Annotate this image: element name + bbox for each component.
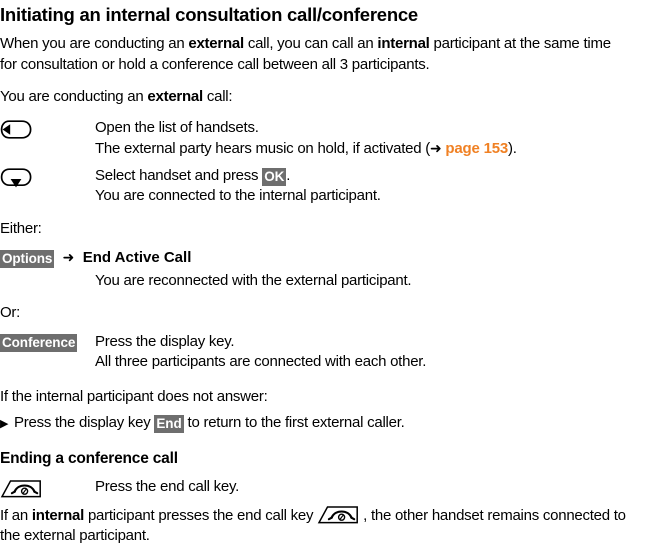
step-text-cell: Press the end call key.: [95, 477, 652, 498]
select-handset-text-end: .: [286, 167, 290, 184]
end-call-key-icon: [317, 506, 359, 524]
step-text-cell: Open the list of handsets. The external …: [95, 118, 652, 160]
control-key-left-icon: [0, 118, 32, 139]
step-line-secondary: All three participants are connected wit…: [95, 352, 652, 373]
no-answer-bullet-item: ▶Press the display key End to return to …: [0, 413, 652, 435]
step-icon-cell: [0, 118, 95, 139]
step-line-primary: Press the display key.: [95, 332, 652, 353]
either-detail-text: You are reconnected with the external pa…: [95, 271, 652, 292]
either-label: Either:: [0, 219, 652, 240]
xref-arrow-icon: ➜: [430, 140, 441, 156]
step-text-cell: Select handset and press OK. You are con…: [95, 166, 652, 207]
step-line-primary: Open the list of handsets.: [95, 118, 652, 139]
end-call-key-icon: [0, 477, 42, 498]
no-answer-lead: If the internal participant does not ans…: [0, 387, 652, 408]
step-icon-cell: Conference: [0, 332, 95, 350]
end-key-badge[interactable]: End: [154, 415, 183, 433]
control-key-down-icon: [0, 166, 32, 189]
intro-bold-internal: internal: [377, 35, 429, 52]
intro-paragraph: When you are conducting an external call…: [0, 34, 625, 75]
step-row-end-call: Press the end call key.: [0, 477, 652, 498]
manual-page: Initiating an internal consultation call…: [0, 4, 652, 518]
or-label: Or:: [0, 303, 652, 324]
menu-item-end-active-call[interactable]: End Active Call: [83, 249, 192, 266]
lead-bold-external: external: [147, 88, 203, 105]
lead-text-1: You are conducting an: [0, 88, 147, 105]
menu-arrow-icon: ➜: [63, 249, 75, 265]
either-menu-path: Options ➜ End Active Call: [0, 247, 652, 269]
step-text-cell: Press the display key. All three partici…: [95, 332, 652, 373]
ending-note-paragraph: If an internal participant presses the e…: [0, 506, 630, 547]
note-bold-internal: internal: [32, 507, 84, 524]
step-row-conference: Conference Press the display key. All th…: [0, 332, 652, 373]
music-on-hold-text: The external party hears music on hold, …: [95, 140, 430, 157]
page-title: Initiating an internal consultation call…: [0, 4, 652, 26]
note-text-mid: participant presses the end call key: [84, 507, 317, 524]
intro-text-2: call, you can call an: [244, 35, 378, 52]
select-handset-text: Select handset and press: [95, 167, 262, 184]
no-answer-text-pre: Press the display key: [14, 414, 154, 431]
bullet-arrow-icon: ▶: [0, 414, 14, 435]
ok-key-badge[interactable]: OK: [262, 168, 286, 186]
lead-text-2: call:: [203, 88, 232, 105]
step-line-secondary: The external party hears music on hold, …: [95, 138, 652, 160]
note-text-pre: If an: [0, 507, 32, 524]
step-row-select-handset: Select handset and press OK. You are con…: [0, 166, 652, 207]
step-icon-cell: [0, 166, 95, 189]
intro-bold-external: external: [188, 35, 244, 52]
step-line-secondary: You are connected to the internal partic…: [95, 186, 652, 207]
conference-key-badge[interactable]: Conference: [0, 334, 77, 352]
step-line-primary: Select handset and press OK.: [95, 166, 652, 187]
music-on-hold-text-end: ).: [508, 140, 517, 157]
page-reference-link[interactable]: page 153: [445, 140, 508, 157]
step-icon-cell: [0, 477, 95, 498]
intro-text-1: When you are conducting an: [0, 35, 188, 52]
options-key-badge[interactable]: Options: [0, 250, 54, 268]
no-answer-text-post: to return to the first external caller.: [184, 414, 405, 431]
subsection-title-ending: Ending a conference call: [0, 449, 652, 469]
lead-paragraph: You are conducting an external call:: [0, 87, 652, 108]
step-row-open-handset-list: Open the list of handsets. The external …: [0, 118, 652, 160]
